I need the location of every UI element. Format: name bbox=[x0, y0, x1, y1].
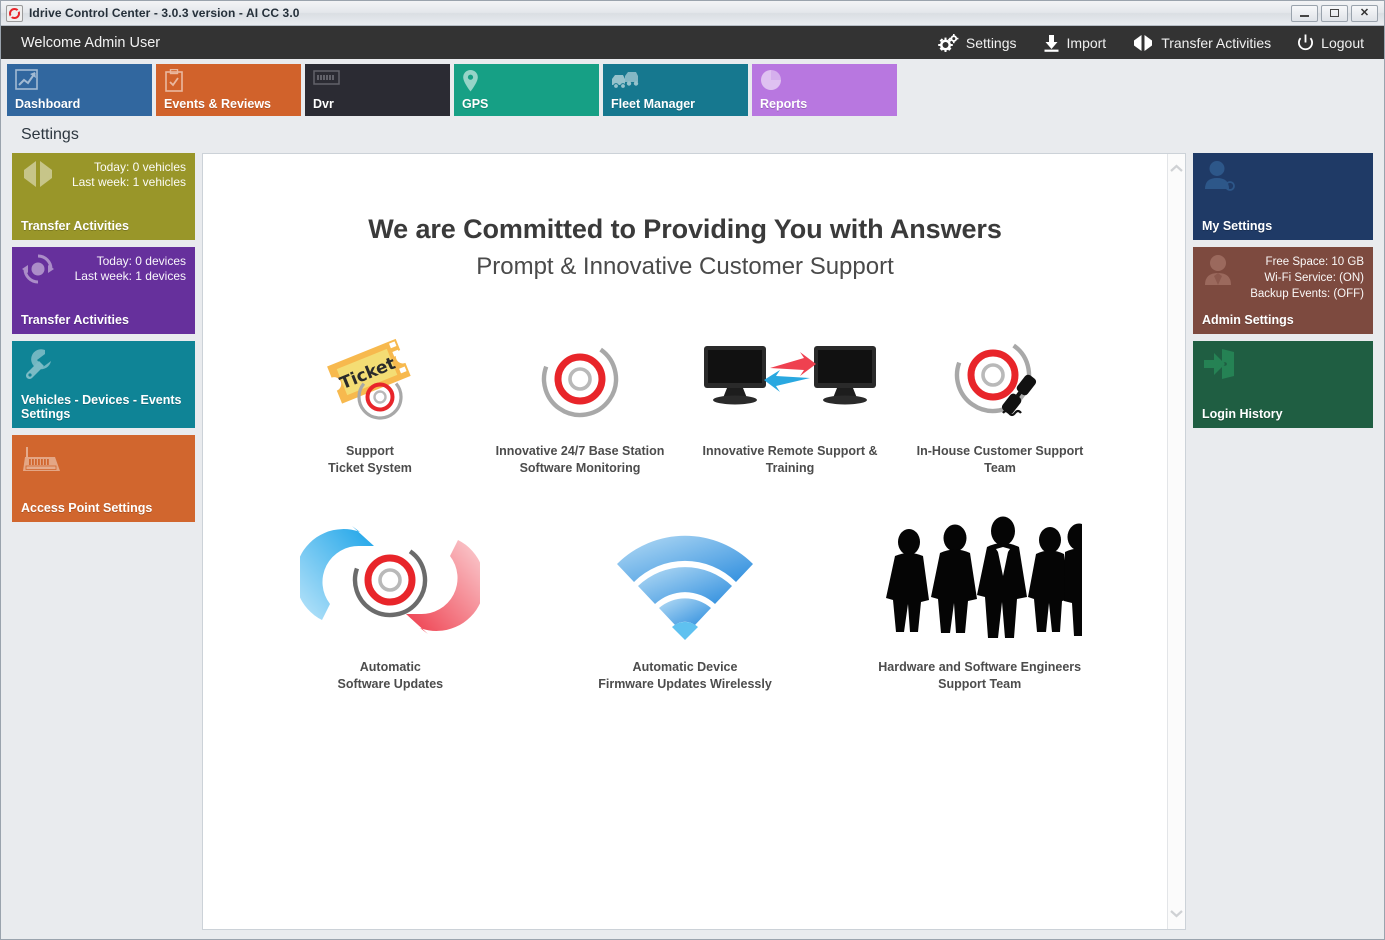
pie-chart-icon bbox=[760, 69, 782, 96]
user-avatar-icon bbox=[1202, 159, 1236, 198]
scroll-up-icon[interactable] bbox=[1170, 160, 1183, 178]
panel-scroll-content: We are Committed to Providing You with A… bbox=[203, 154, 1167, 929]
tile-admin-settings[interactable]: Free Space: 10 GB Wi-Fi Service: (ON) Ba… bbox=[1193, 247, 1373, 334]
tile-stat-line: Last week: 1 vehicles bbox=[21, 175, 186, 190]
hero-heading: We are Committed to Providing You with A… bbox=[203, 214, 1167, 245]
tile-stat-line: Last week: 1 devices bbox=[21, 269, 186, 284]
feature-caption-line: Ticket System bbox=[328, 460, 412, 477]
menu-transfer-label: Transfer Activities bbox=[1161, 35, 1271, 51]
feature-row-2: Automatic Software Updates bbox=[203, 515, 1167, 693]
menu-import-label: Import bbox=[1067, 35, 1107, 51]
transfer-arrows-icon bbox=[1132, 34, 1154, 52]
title-bar: Idrive Control Center - 3.0.3 version - … bbox=[1, 1, 1384, 26]
login-door-icon bbox=[1202, 347, 1236, 384]
vertical-scrollbar[interactable] bbox=[1167, 154, 1185, 929]
window-title: Idrive Control Center - 3.0.3 version - … bbox=[29, 6, 300, 20]
feature-automatic-firmware-updates: Automatic Device Firmware Updates Wirele… bbox=[538, 515, 833, 693]
wifi-signal-icon bbox=[610, 515, 760, 645]
maximize-button[interactable] bbox=[1321, 5, 1348, 22]
feature-base-station-monitoring: Innovative 24/7 Base Station Software Mo… bbox=[475, 329, 685, 477]
tab-reports-label: Reports bbox=[760, 97, 807, 111]
welcome-label: Welcome Admin User bbox=[21, 35, 160, 51]
page-title: Settings bbox=[1, 117, 1384, 153]
menu-bar: Welcome Admin User bbox=[1, 26, 1384, 59]
tab-events-reviews-label: Events & Reviews bbox=[164, 97, 271, 111]
tile-stat-line: Free Space: 10 GB bbox=[1202, 254, 1364, 270]
router-icon bbox=[21, 441, 65, 480]
target-phone-icon bbox=[945, 329, 1055, 429]
dvr-box-icon bbox=[313, 69, 340, 92]
feature-caption-line: In-House Customer Support bbox=[917, 443, 1084, 460]
window-controls: ✕ bbox=[1291, 5, 1384, 22]
tab-fleet-manager[interactable]: Fleet Manager bbox=[603, 64, 748, 116]
feature-caption-line: Training bbox=[702, 460, 877, 477]
wrench-icon bbox=[21, 347, 57, 386]
map-pin-icon bbox=[462, 69, 479, 98]
feature-remote-support-training: Innovative Remote Support & Training bbox=[685, 329, 895, 477]
tile-label: Access Point Settings bbox=[21, 501, 158, 515]
menu-import[interactable]: Import bbox=[1043, 34, 1107, 52]
gears-icon bbox=[938, 34, 959, 52]
hero-block: We are Committed to Providing You with A… bbox=[203, 154, 1167, 281]
download-icon bbox=[1043, 34, 1060, 52]
feature-row-1: Ticket Support Ticket System bbox=[203, 329, 1167, 477]
tab-gps[interactable]: GPS bbox=[454, 64, 599, 116]
refresh-target-icon bbox=[300, 515, 480, 645]
menu-settings-label: Settings bbox=[966, 35, 1017, 51]
feature-automatic-software-updates: Automatic Software Updates bbox=[243, 515, 538, 693]
menu-settings[interactable]: Settings bbox=[938, 34, 1017, 52]
chart-trend-icon bbox=[15, 69, 39, 96]
tile-access-point-settings[interactable]: Access Point Settings bbox=[12, 435, 195, 522]
feature-in-house-support-team: In-House Customer Support Team bbox=[895, 329, 1105, 477]
tab-dashboard-label: Dashboard bbox=[15, 97, 80, 111]
tab-gps-label: GPS bbox=[462, 97, 488, 111]
tile-transfer-activities-vehicles[interactable]: Today: 0 vehicles Last week: 1 vehicles … bbox=[12, 153, 195, 240]
content-area: Today: 0 vehicles Last week: 1 vehicles … bbox=[1, 153, 1384, 939]
support-content-panel: We are Committed to Providing You with A… bbox=[202, 153, 1186, 930]
clipboard-check-icon bbox=[164, 69, 184, 97]
menu-logout[interactable]: Logout bbox=[1297, 34, 1364, 52]
tile-label: Admin Settings bbox=[1202, 313, 1300, 327]
tile-my-settings[interactable]: My Settings bbox=[1193, 153, 1373, 240]
tile-label: Transfer Activities bbox=[21, 313, 135, 327]
tile-label: My Settings bbox=[1202, 219, 1278, 233]
hero-subheading: Prompt & Innovative Customer Support bbox=[203, 253, 1167, 281]
support-ticket-icon: Ticket bbox=[315, 329, 425, 429]
tile-label: Transfer Activities bbox=[21, 219, 135, 233]
feature-caption-line: Automatic Device bbox=[598, 659, 772, 676]
menu-transfer-activities[interactable]: Transfer Activities bbox=[1132, 34, 1271, 52]
two-monitors-transfer-icon bbox=[700, 329, 880, 429]
tile-label: Login History bbox=[1202, 407, 1289, 421]
left-tile-column: Today: 0 vehicles Last week: 1 vehicles … bbox=[12, 153, 195, 930]
tile-stat-line: Backup Events: (OFF) bbox=[1202, 286, 1364, 302]
feature-caption-line: Support bbox=[328, 443, 412, 460]
tile-vehicles-devices-events-settings[interactable]: Vehicles - Devices - Events Settings bbox=[12, 341, 195, 428]
tile-stat-line: Today: 0 vehicles bbox=[21, 160, 186, 175]
tab-events-reviews[interactable]: Events & Reviews bbox=[156, 64, 301, 116]
tile-stat-line: Wi-Fi Service: (ON) bbox=[1202, 270, 1364, 286]
tile-login-history[interactable]: Login History bbox=[1193, 341, 1373, 428]
scroll-down-icon[interactable] bbox=[1170, 905, 1183, 923]
minimize-button[interactable] bbox=[1291, 5, 1318, 22]
feature-caption-line: Hardware and Software Engineers bbox=[878, 659, 1081, 676]
feature-caption-line: Innovative 24/7 Base Station bbox=[496, 443, 665, 460]
tab-dashboard[interactable]: Dashboard bbox=[7, 64, 152, 116]
feature-caption-line: Software Monitoring bbox=[496, 460, 665, 477]
tile-transfer-activities-devices[interactable]: Today: 0 devices Last week: 1 devices Tr… bbox=[12, 247, 195, 334]
feature-engineers-support-team: Hardware and Software Engineers Support … bbox=[832, 515, 1127, 693]
menu-logout-label: Logout bbox=[1321, 35, 1364, 51]
feature-caption-line: Software Updates bbox=[338, 676, 444, 693]
target-ring-icon bbox=[530, 329, 630, 429]
app-icon bbox=[6, 5, 23, 22]
right-tile-column: My Settings Free Space: 10 GB Wi-Fi Serv… bbox=[1193, 153, 1373, 930]
power-icon bbox=[1297, 34, 1314, 52]
close-button[interactable]: ✕ bbox=[1351, 5, 1378, 22]
feature-support-ticket-system: Ticket Support Ticket System bbox=[265, 329, 475, 477]
tile-stat-line: Today: 0 devices bbox=[21, 254, 186, 269]
main-tab-strip: Dashboard Events & Reviews bbox=[1, 59, 1384, 117]
feature-caption-line: Innovative Remote Support & bbox=[702, 443, 877, 460]
feature-caption-line: Team bbox=[917, 460, 1084, 477]
feature-caption-line: Support Team bbox=[878, 676, 1081, 693]
application-window: Idrive Control Center - 3.0.3 version - … bbox=[0, 0, 1385, 940]
tab-reports[interactable]: Reports bbox=[752, 64, 897, 116]
people-silhouette-icon bbox=[877, 515, 1082, 645]
center-panel-wrap: We are Committed to Providing You with A… bbox=[202, 153, 1186, 930]
tab-dvr-label: Dvr bbox=[313, 97, 334, 111]
vehicles-icon bbox=[611, 69, 639, 94]
feature-caption-line: Firmware Updates Wirelessly bbox=[598, 676, 772, 693]
tile-label: Vehicles - Devices - Events Settings bbox=[21, 393, 195, 421]
tab-fleet-manager-label: Fleet Manager bbox=[611, 97, 695, 111]
tab-dvr[interactable]: Dvr bbox=[305, 64, 450, 116]
feature-caption-line: Automatic bbox=[338, 659, 444, 676]
